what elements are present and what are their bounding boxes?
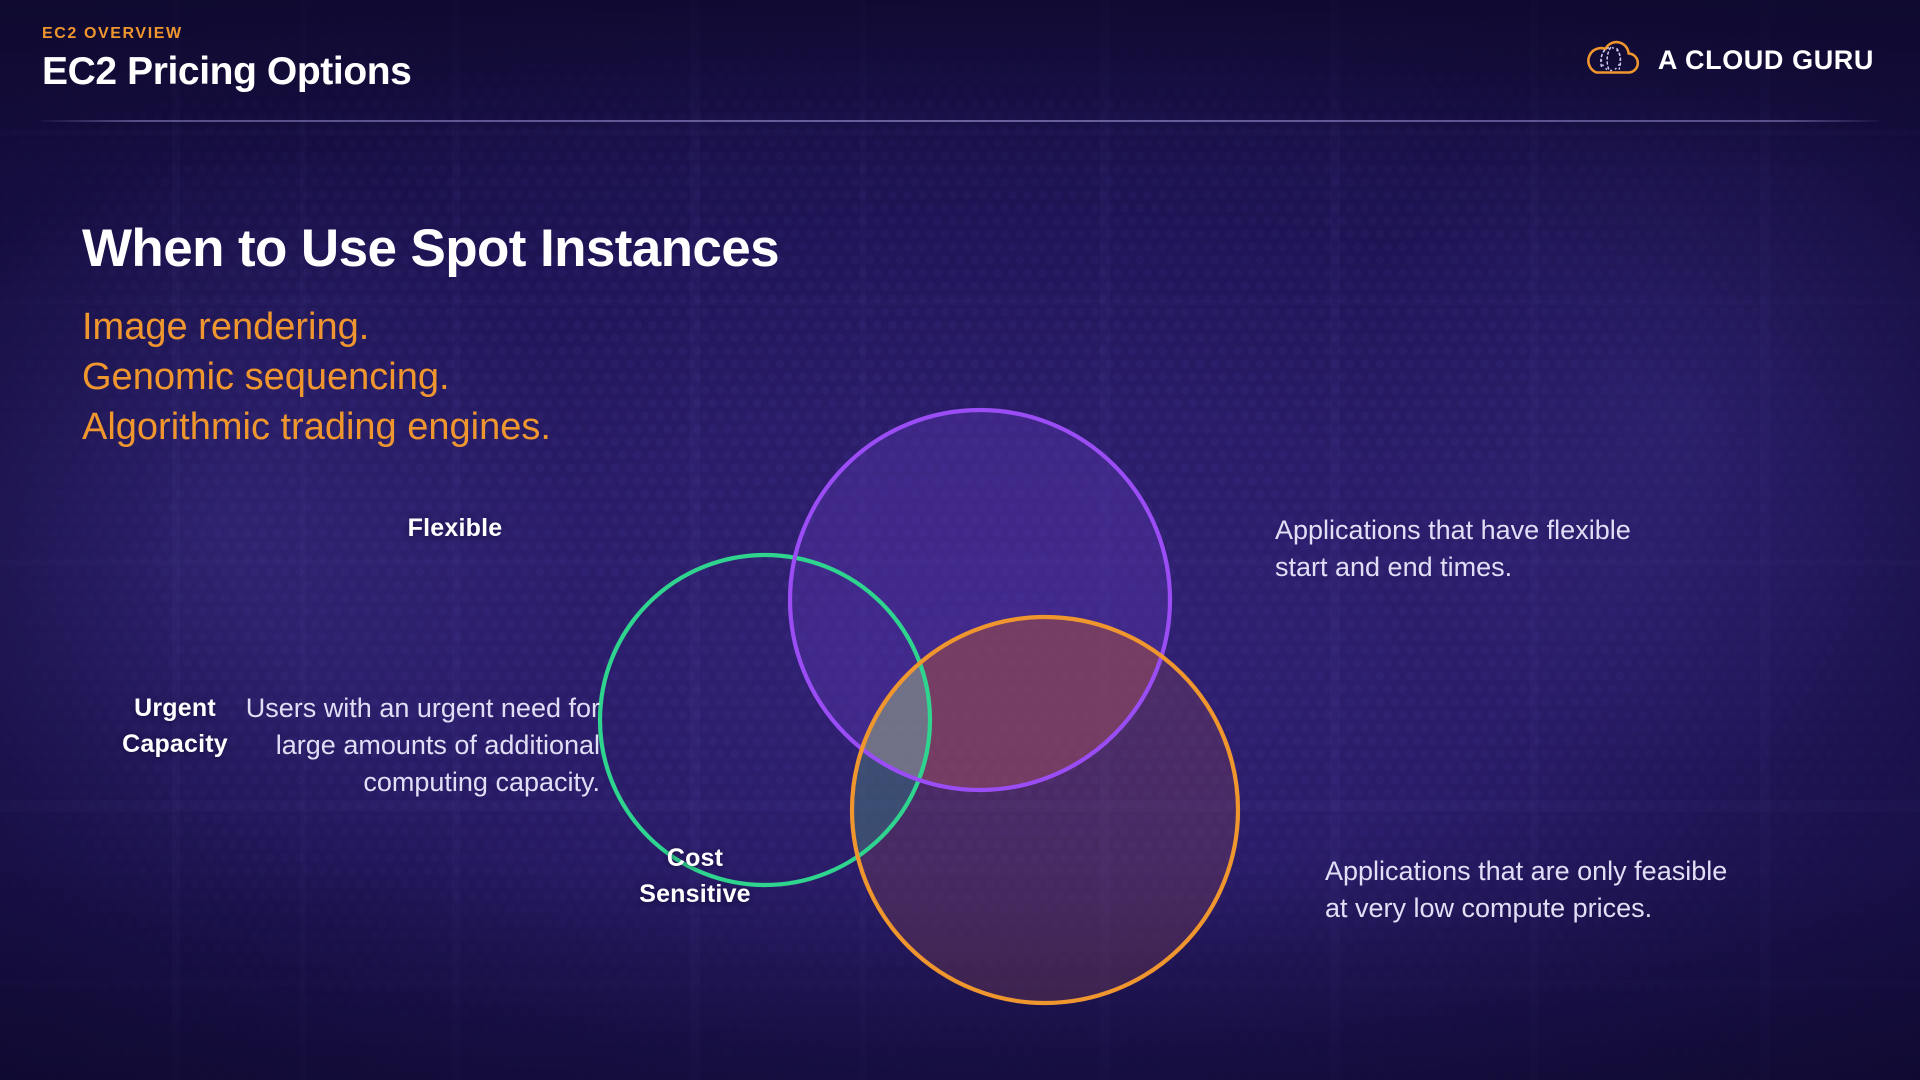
use-case-list: Image rendering. Genomic sequencing. Alg… xyxy=(82,302,551,452)
list-item: Algorithmic trading engines. xyxy=(82,402,551,452)
venn-label-flexible: Flexible xyxy=(340,510,570,546)
note-line: computing capacity. xyxy=(170,764,600,801)
note-cost-sensitive: Applications that are only feasible at v… xyxy=(1325,853,1825,927)
venn-diagram xyxy=(560,390,1360,1050)
venn-label-line: Cost xyxy=(580,840,810,876)
list-item: Genomic sequencing. xyxy=(82,352,551,402)
header-eyebrow: EC2 OVERVIEW xyxy=(42,25,183,43)
note-urgent-capacity: Users with an urgent need for large amou… xyxy=(170,690,600,801)
note-line: large amounts of additional xyxy=(170,727,600,764)
slide-header: EC2 OVERVIEW EC2 Pricing Options A CLOUD… xyxy=(0,0,1920,130)
brand-logo: A CLOUD GURU xyxy=(1583,38,1874,83)
note-line: start and end times. xyxy=(1275,549,1745,586)
page-title: When to Use Spot Instances xyxy=(82,218,779,279)
slide-canvas: EC2 OVERVIEW EC2 Pricing Options A CLOUD… xyxy=(0,0,1920,1080)
list-item: Image rendering. xyxy=(82,302,551,352)
note-line: Applications that are only feasible xyxy=(1325,853,1825,890)
note-line: Users with an urgent need for xyxy=(170,690,600,727)
venn-label-line: Flexible xyxy=(340,510,570,546)
header-divider xyxy=(42,120,1878,122)
cloud-icon xyxy=(1583,38,1641,83)
venn-label-cost-sensitive: Cost Sensitive xyxy=(580,840,810,912)
brand-name: A CLOUD GURU xyxy=(1658,45,1874,76)
header-title: EC2 Pricing Options xyxy=(42,50,411,94)
note-line: at very low compute prices. xyxy=(1325,890,1825,927)
note-line: Applications that have flexible xyxy=(1275,512,1745,549)
venn-label-line: Sensitive xyxy=(580,876,810,912)
note-flexible: Applications that have flexible start an… xyxy=(1275,512,1745,586)
